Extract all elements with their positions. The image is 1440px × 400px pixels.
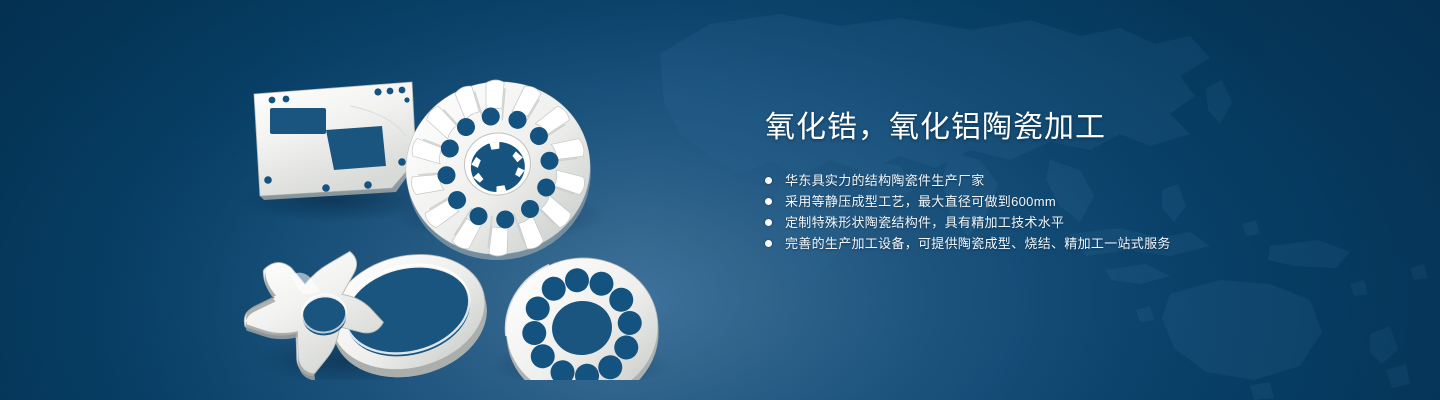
list-item-label: 采用等静压成型工艺，最大直径可做到600mm [785, 191, 1056, 212]
list-item: 完善的生产加工设备，可提供陶瓷成型、烧结、精加工一站式服务 [765, 233, 1385, 254]
feature-list: 华东具实力的结构陶瓷件生产厂家 采用等静压成型工艺，最大直径可做到600mm 定… [765, 170, 1385, 254]
bullet-dot-icon [765, 240, 772, 247]
bullet-dot-icon [765, 177, 772, 184]
ceramic-products-image [230, 40, 720, 380]
page-title: 氧化锆，氧化铝陶瓷加工 [765, 108, 1385, 148]
list-item-label: 完善的生产加工设备，可提供陶瓷成型、烧结、精加工一站式服务 [785, 233, 1171, 254]
bullet-dot-icon [765, 219, 772, 226]
banner-copy-block: 氧化锆，氧化铝陶瓷加工 华东具实力的结构陶瓷件生产厂家 采用等静压成型工艺，最大… [765, 108, 1385, 254]
list-item-label: 定制特殊形状陶瓷结构件，具有精加工技术水平 [785, 212, 1064, 233]
list-item: 华东具实力的结构陶瓷件生产厂家 [765, 170, 1385, 191]
list-item-label: 华东具实力的结构陶瓷件生产厂家 [785, 170, 985, 191]
ceramic-impeller-part [395, 68, 602, 272]
list-item: 定制特殊形状陶瓷结构件，具有精加工技术水平 [765, 212, 1385, 233]
ceramic-holed-disc-part [499, 250, 665, 380]
promo-banner: 氧化锆，氧化铝陶瓷加工 华东具实力的结构陶瓷件生产厂家 采用等静压成型工艺，最大… [0, 0, 1440, 400]
ceramic-plate-part [254, 82, 416, 200]
bullet-dot-icon [765, 198, 772, 205]
list-item: 采用等静压成型工艺，最大直径可做到600mm [765, 191, 1385, 212]
